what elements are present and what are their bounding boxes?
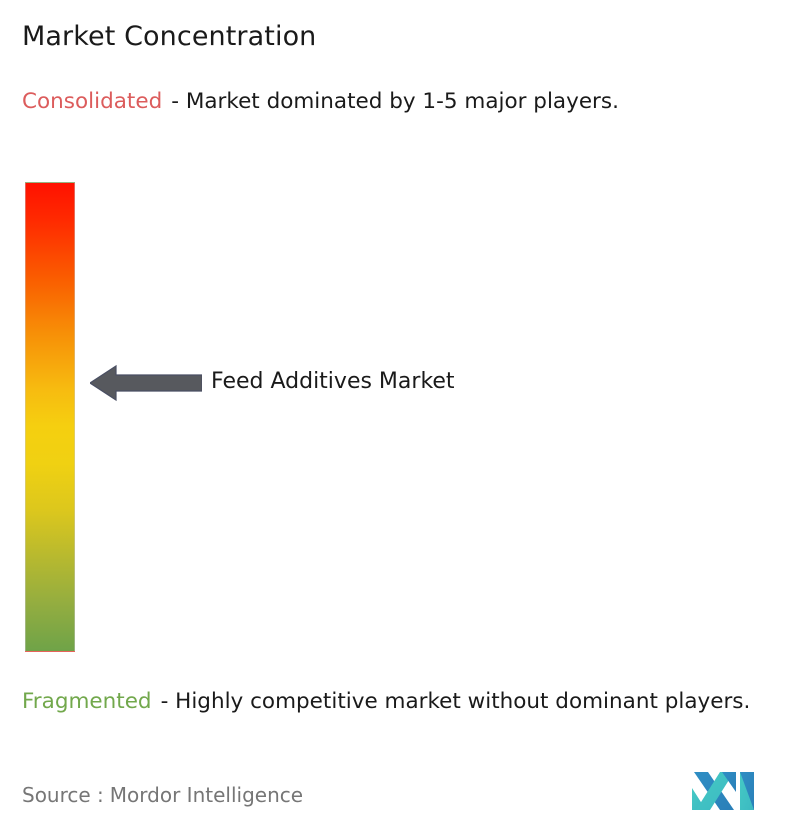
consolidated-caption: Consolidated- Market dominated by 1-5 ma… [22,86,770,117]
source-label: Source : [22,783,104,807]
fragmented-caption: Fragmented- Highly competitive market wi… [22,686,784,717]
consolidated-keyword: Consolidated [22,89,162,114]
mordor-intelligence-logo [690,766,764,812]
market-position-label: Feed Additives Market [211,367,455,397]
market-concentration-infographic: Market Concentration Consolidated- Marke… [0,0,796,834]
fragmented-keyword: Fragmented [22,689,152,714]
market-concentration-gradient-bar [25,182,75,652]
page-title: Market Concentration [22,20,316,54]
consolidated-description: - Market dominated by 1-5 major players. [171,89,619,114]
market-position-arrow [90,364,202,402]
source-line: Source :Mordor Intelligence [22,782,303,808]
left-arrow-icon [90,366,202,400]
source-value: Mordor Intelligence [110,783,303,807]
fragmented-description: - Highly competitive market without domi… [161,689,751,714]
